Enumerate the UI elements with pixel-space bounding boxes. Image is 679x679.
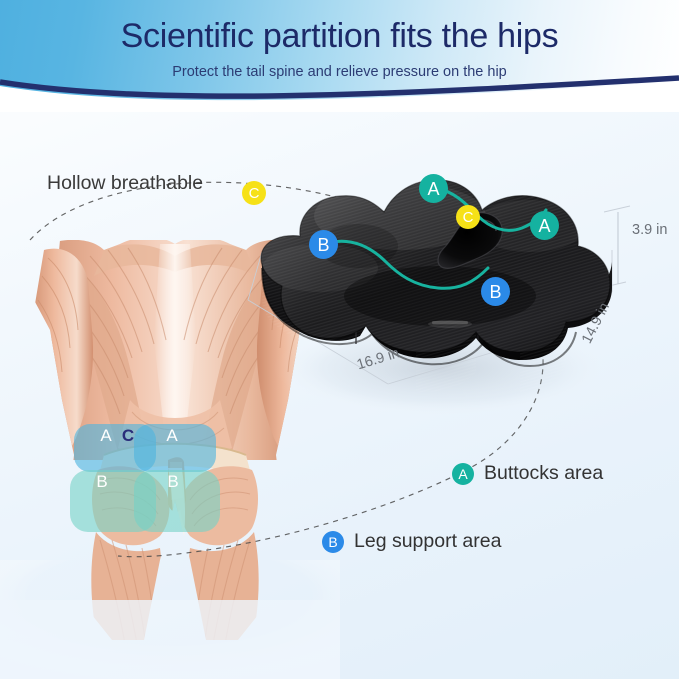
cushion-badge-c[interactable]: C [456, 205, 480, 229]
zone-label-c-tailbone: C [118, 426, 138, 446]
hollow-breathable-badge[interactable]: C [242, 181, 266, 205]
legend-item-leg-support[interactable]: B Leg support area [322, 530, 501, 553]
brand-logo [428, 320, 472, 328]
dimension-guide-lines [248, 206, 630, 384]
page-subtitle: Protect the tail spine and relieve press… [0, 64, 679, 80]
hollow-breathable-label: Hollow breathable [47, 172, 203, 195]
dimension-width-label: 16.9 in [355, 345, 401, 373]
divider-line-lower [332, 241, 488, 288]
page-title: Scientific partition fits the hips [0, 14, 679, 58]
cushion-badge-a-2[interactable]: A [530, 211, 559, 240]
cushion-badge-a-1[interactable]: A [419, 174, 448, 203]
legend-item-buttocks[interactable]: A Buttocks area [452, 462, 603, 485]
zone-label-b-right: B [160, 472, 186, 492]
legend-label-buttocks: Buttocks area [484, 462, 603, 485]
cushion-badge-b-1[interactable]: B [309, 230, 338, 259]
zone-label-a-right: A [159, 426, 185, 446]
legend-badge-b: B [322, 531, 344, 553]
legend-label-leg-support: Leg support area [354, 530, 501, 553]
zone-label-a-left: A [93, 426, 119, 446]
header-banner: Scientific partition fits the hips Prote… [0, 0, 679, 112]
infographic-page: Scientific partition fits the hips Prote… [0, 0, 679, 679]
zone-label-b-left: B [89, 472, 115, 492]
dimension-height-label: 3.9 in [632, 222, 667, 238]
cushion-badge-b-2[interactable]: B [481, 277, 510, 306]
legend-badge-a: A [452, 463, 474, 485]
dimension-depth-label: 14.9 in [579, 300, 613, 346]
anatomy-body [22, 240, 328, 664]
